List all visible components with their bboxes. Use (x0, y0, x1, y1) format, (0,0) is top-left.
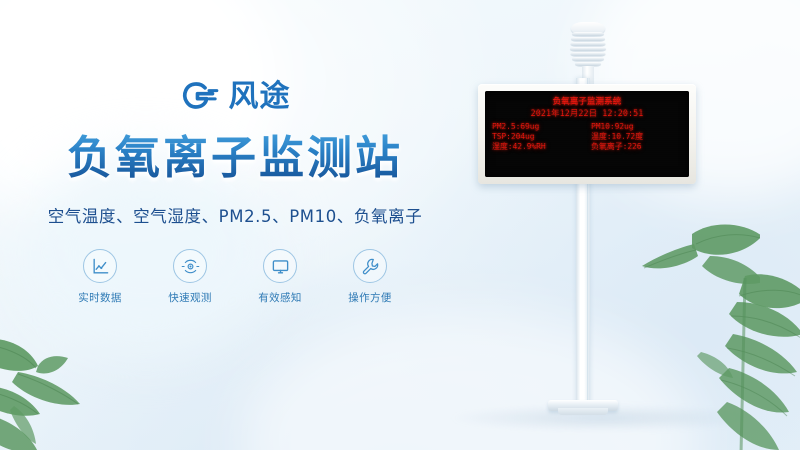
reading-temperature: 温度:10.72度 (587, 132, 683, 142)
feature-label: 实时数据 (78, 290, 122, 305)
led-display-board[interactable]: 负氧离子监测系统 2021年12月22日 12:20:51 PM2.5:69ug… (478, 84, 696, 184)
led-readings: PM2.5:69ug PM10:92ug TSP:204ug 温度:10.72度… (491, 122, 683, 153)
page-title: 负氧离子监测站 (0, 134, 470, 181)
reading-humidity: 湿度:42.9%RH (491, 142, 587, 152)
brand-lockup: 风途 (0, 74, 470, 120)
base-foot (558, 408, 608, 415)
led-datetime: 2021年12月22日 12:20:51 (491, 108, 683, 119)
reading-pm10: PM10:92ug (587, 122, 683, 132)
led-title: 负氧离子监测系统 (491, 96, 683, 107)
green-leaves-icon-left (0, 310, 134, 450)
led-reading-row: TSP:204ug 温度:10.72度 (491, 132, 683, 142)
radar-observation-icon (173, 249, 207, 283)
reading-anion: 负氧离子:226 (587, 142, 683, 152)
line-chart-icon (83, 249, 117, 283)
led-reading-row: 湿度:42.9%RH 负氧离子:226 (491, 142, 683, 152)
feature-item-easy-operation[interactable]: 操作方便 (338, 249, 402, 305)
feature-label: 操作方便 (348, 290, 392, 305)
feature-item-realtime-data[interactable]: 实时数据 (68, 249, 132, 305)
wrench-icon (353, 249, 387, 283)
gf-logo-icon (180, 80, 220, 114)
feature-label: 快速观测 (168, 290, 212, 305)
reading-tsp: TSP:204ug (491, 132, 587, 142)
feature-label: 有效感知 (258, 290, 302, 305)
reading-pm25: PM2.5:69ug (491, 122, 587, 132)
scene-background: 风途 负氧离子监测站 空气温度、空气湿度、PM2.5、PM10、负氧离子 实时数… (0, 0, 800, 450)
led-reading-row: PM2.5:69ug PM10:92ug (491, 122, 683, 132)
monitoring-station: 负氧离子监测系统 2021年12月22日 12:20:51 PM2.5:69ug… (440, 0, 800, 450)
feature-item-effective-sensing[interactable]: 有效感知 (248, 249, 312, 305)
feature-list: 实时数据 快速观测 (0, 249, 470, 305)
hero-copy-block: 风途 负氧离子监测站 空气温度、空气湿度、PM2.5、PM10、负氧离子 实时数… (0, 74, 470, 305)
feature-item-fast-observation[interactable]: 快速观测 (158, 249, 222, 305)
monitor-icon (263, 249, 297, 283)
sensor-louver-plates (568, 32, 608, 68)
led-screen: 负氧离子监测系统 2021年12月22日 12:20:51 PM2.5:69ug… (485, 91, 689, 177)
hero-subtitle: 空气温度、空气湿度、PM2.5、PM10、负氧离子 (0, 203, 470, 227)
radiation-shield-sensor-icon (566, 22, 610, 84)
brand-name: 风途 (229, 82, 291, 112)
